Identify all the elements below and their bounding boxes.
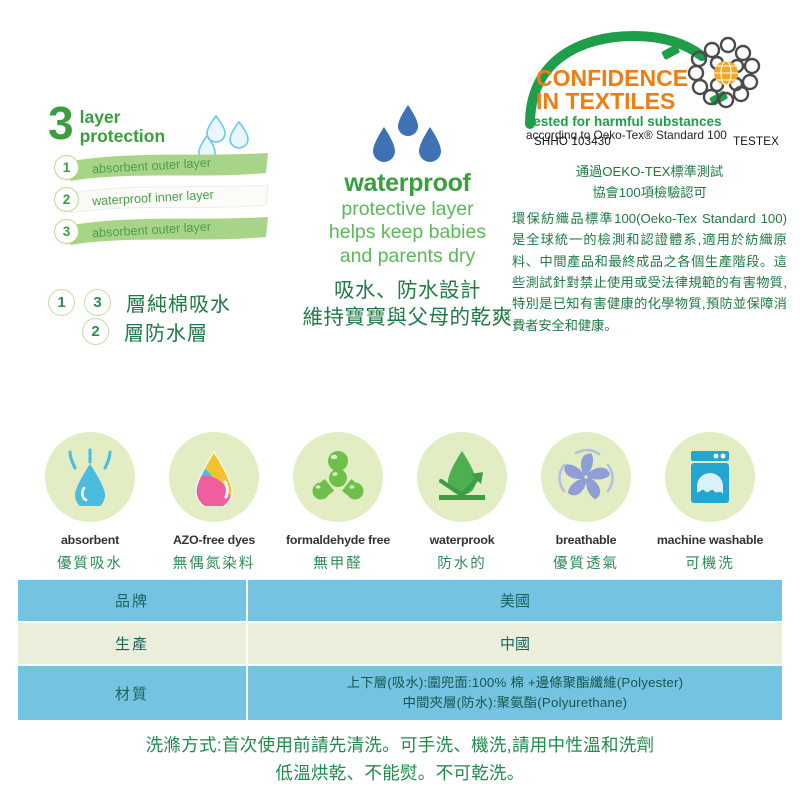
three-layer-heading: 3 layer protection bbox=[48, 105, 298, 145]
blue-droplets-icon bbox=[300, 105, 515, 167]
oeko-tex-block: CONFIDENCE IN TEXTILES Tested for harmfu… bbox=[512, 28, 787, 336]
three-layer-title-line1: layer bbox=[80, 108, 166, 127]
feature-azo-free-dyes: AZO-free dyes 無偶氮染料 bbox=[156, 432, 272, 573]
feature-absorbent-cn: 優質吸水 bbox=[32, 552, 148, 573]
summary-circle-1: 1 bbox=[48, 289, 75, 316]
svg-text:according to Oeko-Tex® Standar: according to Oeko-Tex® Standard 100 bbox=[526, 128, 727, 140]
material-line-1: 上下層(吸水):圍兜面:100% 棉 +邊條聚酯纖維(Polyester) bbox=[248, 673, 782, 693]
oeko-cn-title-2: 協會100項檢驗認可 bbox=[512, 182, 787, 203]
table-value-production: 中國 bbox=[248, 623, 782, 666]
table-value-brand: 美國 bbox=[248, 580, 782, 623]
waterproof-cn-line-1: 吸水、防水設計 bbox=[300, 277, 515, 304]
feature-icon-row: absorbent 優質吸水 bbox=[0, 432, 800, 573]
feature-absorbent: absorbent 優質吸水 bbox=[32, 432, 148, 573]
feature-azo-cn: 無偶氮染料 bbox=[156, 552, 272, 573]
table-value-material: 上下層(吸水):圍兜面:100% 棉 +邊條聚酯纖維(Polyester) 中間… bbox=[248, 666, 782, 722]
table-label-material: 材質 bbox=[18, 666, 248, 722]
layer-number-1: 1 bbox=[54, 155, 79, 180]
svg-text:IN TEXTILES: IN TEXTILES bbox=[536, 88, 675, 114]
specification-table: 品牌 美國 生產 中國 材質 上下層(吸水):圍兜面:100% 棉 +邊條聚酯纖… bbox=[18, 580, 782, 722]
feature-washable-en: machine washable bbox=[652, 533, 768, 547]
multicolor-droplet-dye-icon bbox=[169, 432, 259, 522]
feature-breathable-en: breathable bbox=[528, 533, 644, 547]
feature-breathable-cn: 優質透氣 bbox=[528, 552, 644, 573]
three-layer-protection-block: 3 layer protection bbox=[48, 105, 298, 251]
feature-formaldehyde-cn: 無甲醛 bbox=[280, 552, 396, 573]
feature-machine-washable: machine washable 可機洗 bbox=[652, 432, 768, 573]
feature-waterproof-en: waterprook bbox=[404, 533, 520, 547]
feature-formaldehyde-en: formaldehyde free bbox=[280, 533, 396, 547]
droplet-repel-surface-icon bbox=[417, 432, 507, 522]
layer-ribbons: 1 absorbent outer layer 2 waterproof inn… bbox=[48, 151, 298, 251]
layer-summary-row-2: 2 層防水層 bbox=[48, 317, 308, 346]
table-row-brand: 品牌 美國 bbox=[18, 580, 782, 623]
waterproof-line-3: and parents dry bbox=[300, 245, 515, 268]
layer-summary-row-1: 1 3 層純棉吸水 bbox=[48, 288, 308, 317]
oeko-cn-body: 環保紡織品標準100(Oeko-Tex Standard 100)是全球統一的檢… bbox=[512, 208, 787, 336]
molecule-formaldehyde-icon bbox=[293, 432, 383, 522]
washing-line-2: 低溫烘乾、不能熨。不可乾洗。 bbox=[0, 760, 800, 788]
three-layer-big-number: 3 bbox=[48, 105, 73, 143]
top-section: 3 layer protection bbox=[0, 0, 800, 420]
feature-absorbent-en: absorbent bbox=[32, 533, 148, 547]
three-layer-title: layer protection bbox=[80, 105, 166, 145]
feature-waterproof: waterprook 防水的 bbox=[404, 432, 520, 573]
oeko-cn-title-1: 通過OEKO-TEX標準測試 bbox=[512, 161, 787, 182]
waterproof-line-1: protective layer bbox=[300, 198, 515, 221]
layer-number-3: 3 bbox=[54, 219, 79, 244]
three-layer-title-line2: protection bbox=[80, 127, 166, 146]
washing-line-1: 洗滌方式:首次使用前請先清洗。可手洗、機洗,請用中性溫和洗劑 bbox=[0, 732, 800, 760]
material-line-2: 中間夾層(防水):聚氨酯(Polyurethane) bbox=[248, 693, 782, 713]
waterproof-title: waterproof bbox=[300, 169, 515, 198]
summary-circle-2: 2 bbox=[82, 318, 109, 345]
feature-washable-cn: 可機洗 bbox=[652, 552, 768, 573]
feature-formaldehyde-free: formaldehyde free 無甲醛 bbox=[280, 432, 396, 573]
waterproof-block: waterproof protective layer helps keep b… bbox=[300, 105, 515, 332]
summary-text-1: 層純棉吸水 bbox=[126, 288, 231, 317]
table-row-production: 生產 中國 bbox=[18, 623, 782, 666]
pinwheel-breathable-icon bbox=[541, 432, 631, 522]
layer-number-2: 2 bbox=[54, 187, 79, 212]
waterproof-line-2: helps keep babies bbox=[300, 221, 515, 244]
confidence-in-textiles-logo: CONFIDENCE IN TEXTILES Tested for harmfu… bbox=[512, 28, 787, 140]
layer-summary: 1 3 層純棉吸水 2 層防水層 bbox=[48, 288, 308, 346]
table-label-brand: 品牌 bbox=[18, 580, 248, 623]
washing-instructions: 洗滌方式:首次使用前請先清洗。可手洗、機洗,請用中性溫和洗劑 低溫烘乾、不能熨。… bbox=[0, 732, 800, 787]
water-droplet-absorbent-icon bbox=[45, 432, 135, 522]
summary-circle-3: 3 bbox=[84, 289, 111, 316]
table-row-material: 材質 上下層(吸水):圍兜面:100% 棉 +邊條聚酯纖維(Polyester)… bbox=[18, 666, 782, 722]
waterproof-cn-line-2: 維持寶寶與父母的乾爽 bbox=[300, 304, 515, 331]
svg-text:Tested for harmful substances: Tested for harmful substances bbox=[526, 114, 722, 129]
washing-machine-icon bbox=[665, 432, 755, 522]
summary-text-2: 層防水層 bbox=[124, 317, 208, 346]
feature-waterproof-cn: 防水的 bbox=[404, 552, 520, 573]
table-label-production: 生產 bbox=[18, 623, 248, 666]
feature-azo-en: AZO-free dyes bbox=[156, 533, 272, 547]
product-infographic: 3 layer protection bbox=[0, 0, 800, 800]
feature-breathable: breathable 優質透氣 bbox=[528, 432, 644, 573]
